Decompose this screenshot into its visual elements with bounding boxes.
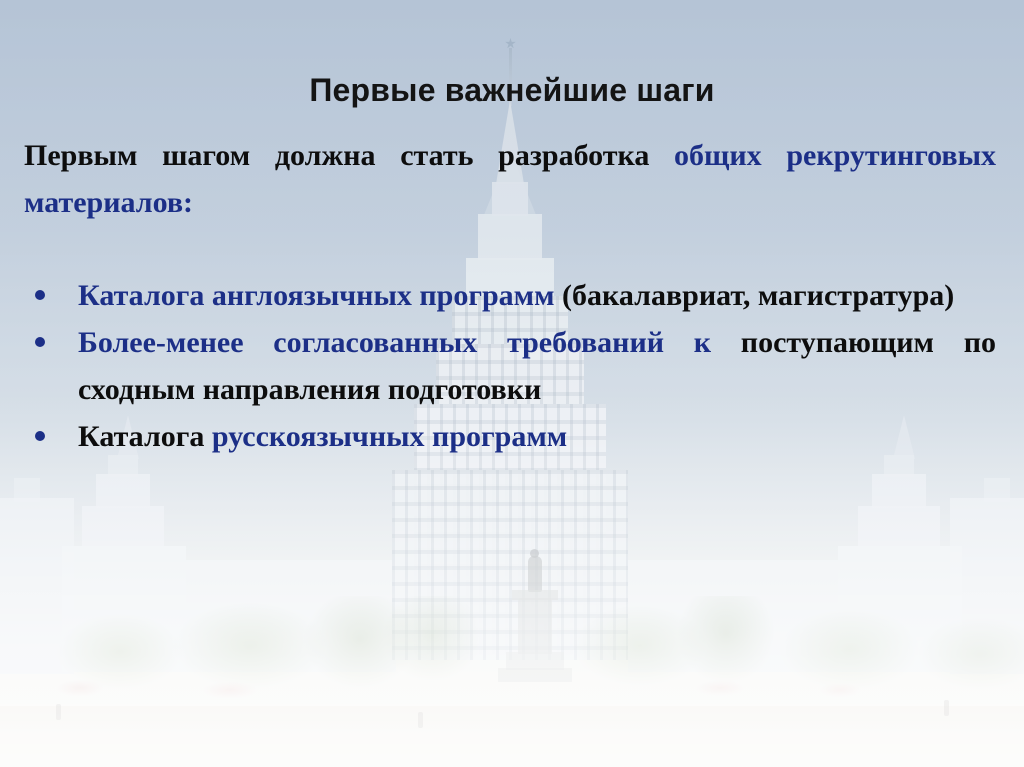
list-item: Каталога русскоязычных программ bbox=[24, 413, 996, 460]
bullet-dot-icon bbox=[35, 290, 45, 300]
presentation-slide: Первые важнейшие шаги Первым шагом должн… bbox=[0, 0, 1024, 767]
list-item-text: Каталога англоязычных программ (бакалавр… bbox=[78, 272, 996, 319]
list-item-text: Каталога русскоязычных программ bbox=[78, 413, 996, 460]
bullet-dot-icon bbox=[35, 337, 45, 347]
slide-content: Первые важнейшие шаги Первым шагом должн… bbox=[0, 0, 1024, 767]
list-item-run-blue: Каталога англоязычных программ bbox=[78, 279, 562, 312]
slide-intro-paragraph: Первым шагом должна стать разработка общ… bbox=[24, 132, 996, 226]
list-item-text: Более-менее согласованных требований к п… bbox=[78, 319, 996, 413]
list-item-run-blue: русскоязычных программ bbox=[212, 420, 567, 453]
list-item: Каталога англоязычных программ (бакалавр… bbox=[24, 272, 996, 319]
bullet-dot-icon bbox=[35, 431, 45, 441]
bullet-list: Каталога англоязычных программ (бакалавр… bbox=[24, 272, 996, 460]
intro-paragraph-text: Первым шагом должна стать разработка общ… bbox=[24, 132, 996, 226]
slide-title: Первые важнейшие шаги bbox=[0, 72, 1024, 108]
list-item-run-black: (бакалавриат, магистратура) bbox=[562, 279, 954, 312]
list-item: Более-менее согласованных требований к п… bbox=[24, 319, 996, 413]
list-item-run-blue: Более-менее согласованных требований к bbox=[78, 326, 741, 359]
list-item-run-black: Каталога bbox=[78, 420, 212, 453]
intro-run-black: Первым шагом должна стать разработка bbox=[24, 139, 674, 172]
